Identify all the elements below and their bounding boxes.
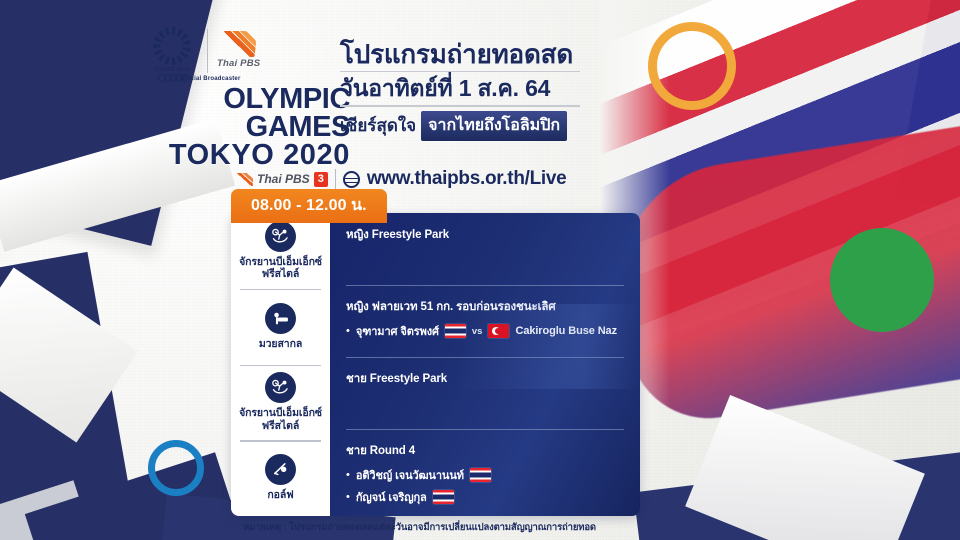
time-slot-badge: 08.00 - 12.00 น. [231,189,387,223]
event-block: หญิง Freestyle Park [330,213,640,285]
olympic-ring-yellow [648,22,736,110]
sport-label-line1: กอล์ฟ [267,489,293,501]
match-bullet: • [346,326,350,337]
sport-label: จักรยานบีเอ็มเอ็กซ์ ฟรีสไตล์ [239,256,322,282]
games-title-line1: OLYMPIC GAMES [223,83,350,143]
tokyo-emblem-label: TOKYO 2020 [154,67,191,73]
flag-turkey-icon [488,324,509,338]
event-title: หญิง ฟลายเวท 51 กก. รอบก่อนรองชนะเลิศ [346,298,624,316]
match-home-name: กัญจน์ เจริญกุล [356,488,427,506]
match-row: • กัญจน์ เจริญกุล [346,488,624,506]
page-title: โปรแกรมถ่ายทอดสด [340,40,580,68]
header-rule-2 [340,105,580,106]
event-title: ชาย Freestyle Park [346,370,624,388]
sport-label: มวยสากล [259,338,302,351]
logo-lockup: TOKYO 2020 Thai PBS [146,27,260,82]
cheer-slogan-highlight: จากไทยถึงโอลิมปิก [421,111,567,141]
thaipbs-channel-logo: Thai PBS 3 [236,172,328,187]
sport-label-line1: มวยสากล [259,338,302,350]
sport-label: จักรยานบีเอ็มเอ็กซ์ ฟรีสไตล์ [239,407,322,433]
official-broadcaster-label: Official Broadcaster [150,76,270,82]
games-title-line2: TOKYO 2020 [140,142,350,170]
broadcast-date: วันอาทิตย์ที่ 1 ส.ค. 64 [340,76,580,102]
event-title: ชาย Round 4 [346,442,624,460]
match-vs-label: vs [472,326,483,337]
thaipbs-bird-small-icon [236,173,253,186]
poster-canvas: TOKYO 2020 Thai PBS Official Broadcaster… [0,0,960,540]
event-title: หญิง Freestyle Park [346,226,624,244]
event-block: ชาย Round 4 • อติวิชญ์ เจนวัฒนานนท์ • กั… [330,429,640,516]
flag-thailand-icon [470,468,491,482]
event-block: หญิง ฟลายเวท 51 กก. รอบก่อนรองชนะเลิศ • … [330,285,640,357]
bmx-freestyle-icon [265,372,296,403]
olympic-ring-blue [148,440,204,496]
logo-divider [207,29,208,73]
sport-label-line1: จักรยานบีเอ็มเอ็กซ์ [239,407,322,419]
thaipbs-logo: Thai PBS [217,27,260,69]
event-block: ชาย Freestyle Park [330,357,640,429]
sport-label-line1: จักรยานบีเอ็มเอ็กซ์ [239,256,322,268]
schedule-card: จักรยานบีเอ็มเอ็กซ์ ฟรีสไตล์ มวยสากล [231,213,640,516]
header-right-column: โปรแกรมถ่ายทอดสด วันอาทิตย์ที่ 1 ส.ค. 64… [340,40,580,141]
header-rule-1 [340,71,580,72]
tokyo-checker-ring-icon [153,27,191,65]
sport-label: กอล์ฟ [267,489,293,502]
live-url-bar[interactable]: Thai PBS 3 www.thaipbs.or.th/Live [236,168,566,190]
tokyo-2020-emblem: TOKYO 2020 [146,27,198,82]
match-row: • จุฑามาศ จิตรพงศ์ vs Cakiroglu Buse Naz [346,322,624,340]
bmx-freestyle-icon [265,221,296,252]
match-away-name: Cakiroglu Buse Naz [515,325,617,337]
thaipbs-wordmark-small: Thai PBS [257,172,310,186]
url-divider [335,169,336,190]
thaipbs-wordmark: Thai PBS [217,58,260,69]
sport-item-golf[interactable]: กอล์ฟ [231,440,330,516]
match-home-name: อติวิชญ์ เจนวัฒนานนท์ [356,466,464,484]
sport-list: จักรยานบีเอ็มเอ็กซ์ ฟรีสไตล์ มวยสากล [231,213,330,516]
sport-label-line2: ฟรีสไตล์ [262,268,299,280]
match-row: • อติวิชญ์ เจนวัฒนานนท์ [346,466,624,484]
flag-thailand-icon [445,324,466,338]
cheer-slogan: เชียร์สุดใจ จากไทยถึงโอลิมปิก [340,111,580,141]
globe-icon [343,171,360,188]
event-list: หญิง Freestyle Park หญิง ฟลายเวท 51 กก. … [330,213,640,516]
games-title: OLYMPIC GAMES TOKYO 2020 [140,86,350,169]
match-home-name: จุฑามาศ จิตรพงศ์ [356,322,439,340]
thaipbs-bird-icon [220,31,257,57]
olympic-ring-green [830,228,934,332]
live-url-text[interactable]: www.thaipbs.or.th/Live [367,168,567,190]
sport-item-bmx-freestyle-women[interactable]: จักรยานบีเอ็มเอ็กซ์ ฟรีสไตล์ [231,213,330,289]
sport-item-bmx-freestyle-men[interactable]: จักรยานบีเอ็มเอ็กซ์ ฟรีสไตล์ [231,365,330,441]
cheer-slogan-prefix: เชียร์สุดใจ [340,112,416,139]
sport-item-boxing[interactable]: มวยสากล [231,289,330,365]
golf-icon [265,454,296,485]
sport-label-line2: ฟรีสไตล์ [262,420,299,432]
match-bullet: • [346,470,350,481]
boxing-icon [265,303,296,334]
channel-number-badge: 3 [314,172,328,187]
match-bullet: • [346,492,350,503]
disclaimer-note: หมายเหตุ : โปรแกรมถ่ายทอดสดแต่ละวันอาจมี… [243,520,673,535]
flag-thailand-icon [433,490,454,504]
